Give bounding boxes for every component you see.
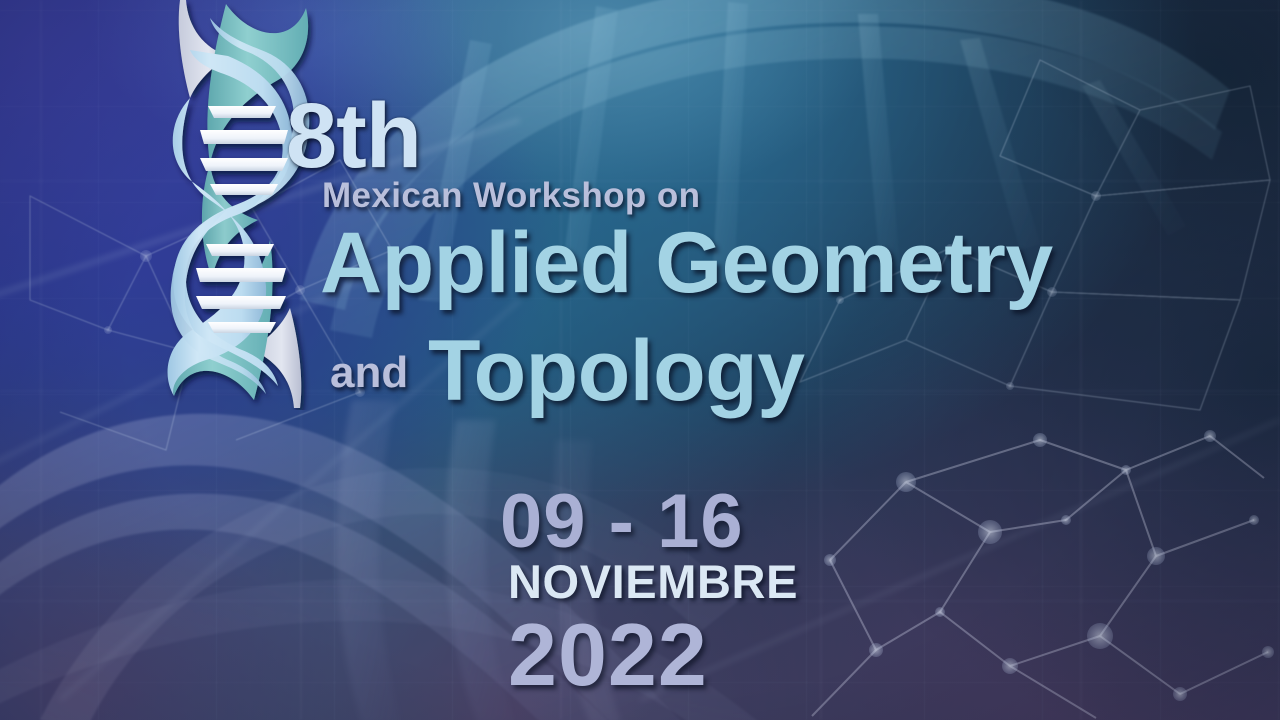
dna-double-helix-logo <box>166 0 316 410</box>
workshop-subtitle: Mexican Workshop on <box>322 176 700 216</box>
ordinal-number: 8th <box>286 84 421 189</box>
title-conjunction-and: and <box>330 348 408 398</box>
event-date-range: 09 - 16 <box>500 478 744 565</box>
event-month: NOVIEMBRE <box>508 554 798 609</box>
conference-poster: 8th Mexican Workshop on Applied Geometry… <box>0 0 1280 720</box>
event-year: 2022 <box>508 604 708 706</box>
title-line-topology: Topology <box>428 322 805 421</box>
title-line-applied-geometry: Applied Geometry <box>320 214 1053 313</box>
